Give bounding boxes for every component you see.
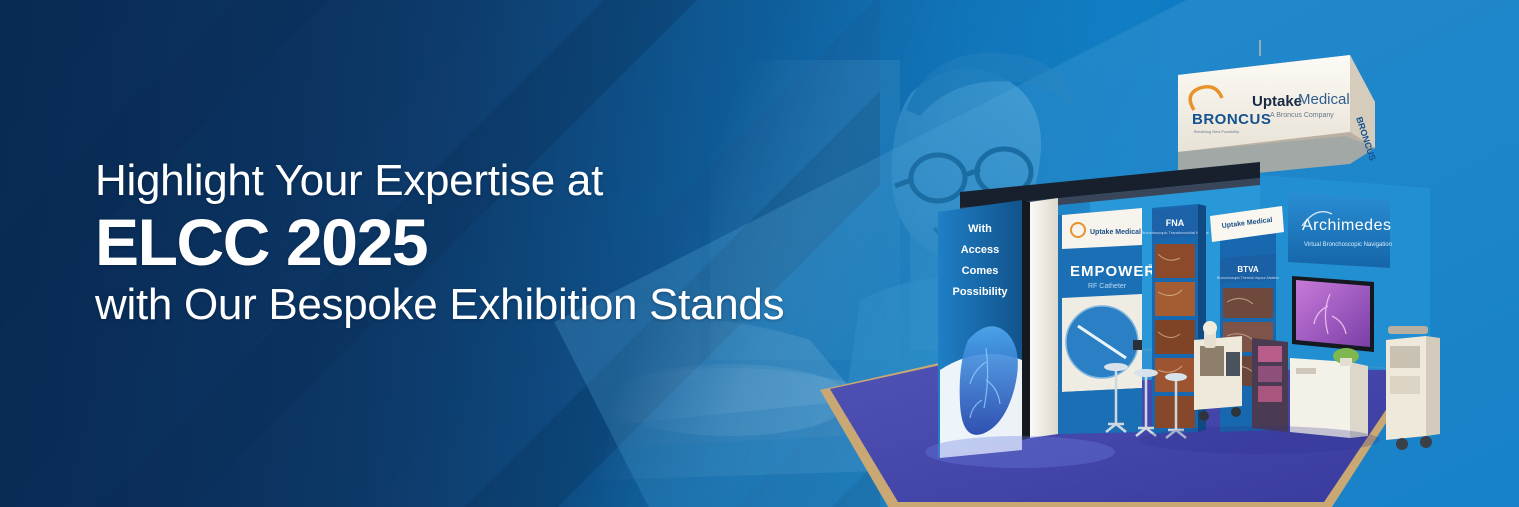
svg-text:Archimedes: Archimedes xyxy=(1302,217,1391,234)
svg-text:Possibility: Possibility xyxy=(952,286,1008,298)
svg-text:RF Catheter: RF Catheter xyxy=(1088,283,1127,290)
svg-text:A Broncus Company: A Broncus Company xyxy=(1270,112,1334,119)
svg-text:FNA: FNA xyxy=(1166,218,1185,228)
svg-text:Uptake: Uptake xyxy=(1252,93,1302,110)
equipment-cart xyxy=(1386,326,1440,450)
panel-empower: Uptake Medical EMPOWER ™ RF Catheter xyxy=(1058,208,1156,434)
panel-left-graphic: With Access Comes Possibility xyxy=(938,200,1030,458)
headline-line-1: Highlight Your Expertise at xyxy=(95,158,855,205)
headline-line-3: with Our Bespoke Exhibition Stands xyxy=(95,282,855,329)
literature-rack xyxy=(1252,338,1288,432)
hanging-sign: BRONCUS Breathing New Possibility Uptake… xyxy=(1178,55,1378,180)
svg-text:BRONCUS: BRONCUS xyxy=(1192,111,1271,128)
svg-text:Medical: Medical xyxy=(1298,91,1350,108)
svg-text:Comes: Comes xyxy=(962,265,999,277)
headline-line-2: ELCC 2025 xyxy=(95,207,855,278)
wall-monitor xyxy=(1292,276,1374,352)
svg-text:Access: Access xyxy=(961,244,1000,256)
svg-text:EMPOWER: EMPOWER xyxy=(1070,263,1156,280)
svg-text:Breathing New Possibility: Breathing New Possibility xyxy=(1194,129,1239,134)
svg-text:BTVA: BTVA xyxy=(1237,265,1258,274)
exhibition-stand-image: BRONCUS Breathing New Possibility Uptake… xyxy=(790,40,1490,507)
panel-white-column xyxy=(1030,198,1058,438)
svg-text:Uptake Medical: Uptake Medical xyxy=(1090,229,1141,236)
headline-block: Highlight Your Expertise at ELCC 2025 wi… xyxy=(95,158,855,329)
svg-text:With: With xyxy=(968,223,992,235)
promo-banner: Highlight Your Expertise at ELCC 2025 wi… xyxy=(0,0,1519,507)
svg-text:Virtual Bronchoscopic Navigati: Virtual Bronchoscopic Navigation xyxy=(1304,242,1392,248)
svg-text:Bronchoscopic Thermal Vapour A: Bronchoscopic Thermal Vapour Ablation xyxy=(1217,276,1279,280)
panel-archimedes: Archimedes Virtual Bronchoscopic Navigat… xyxy=(1288,192,1392,268)
